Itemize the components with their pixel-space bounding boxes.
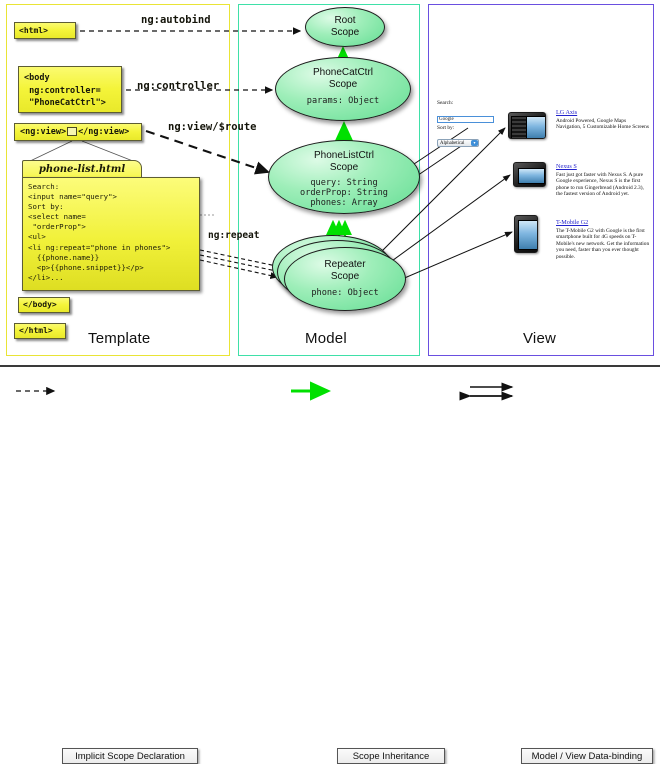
phone-image-lg-axis — [508, 112, 546, 139]
wire-label-ng-controller: ng:controller — [137, 80, 219, 92]
phone-snippet: Android Powered, Google Maps Navigation,… — [556, 118, 650, 131]
scope-phonecatctrl-title-line2: Scope — [276, 79, 410, 91]
scope-repeater-title-line2: Scope — [285, 271, 405, 283]
legend-implicit-scope-declaration: Implicit Scope Declaration — [62, 748, 198, 764]
ngview-slot-icon — [67, 127, 77, 136]
code-html-open-tag: <html> — [14, 22, 76, 39]
column-label-view: View — [523, 330, 556, 347]
column-label-model: Model — [305, 330, 347, 347]
phone-name-link[interactable]: LG Axis — [556, 109, 650, 116]
scope-phonelistctrl-title-line1: PhoneListCtrl — [269, 150, 419, 162]
phone-image-t-mobile-g2 — [514, 215, 538, 253]
phone-snippet: The T-Mobile G2 with Google is the first… — [556, 228, 650, 260]
legend-arrows — [0, 367, 660, 407]
phone-list-item[interactable]: LG Axis Android Powered, Google Maps Nav… — [556, 109, 650, 131]
ngview-close-tag: </ng:view> — [78, 127, 129, 137]
diagram-canvas: <html> <body ng:controller= "PhoneCatCtr… — [0, 0, 660, 405]
sort-label: Sort by: — [437, 125, 499, 132]
scope-root: Root Scope — [305, 7, 385, 47]
legend-scope-inheritance: Scope Inheritance — [337, 748, 445, 764]
chevron-down-icon: ▾ — [471, 140, 478, 146]
scope-phonelistctrl-title-line2: Scope — [269, 162, 419, 174]
wire-label-ng-repeat: ng:repeat — [208, 230, 259, 241]
ngview-open-tag: <ng:view> — [20, 127, 66, 137]
scope-root-title-line1: Root — [306, 15, 384, 27]
scope-phonelistctrl-member-phones: phones: Array — [269, 198, 419, 208]
wire-label-ng-view-route: ng:view/$route — [168, 121, 257, 133]
search-label: Search: — [437, 100, 499, 107]
code-ngview-tag: <ng:view></ng:view> — [14, 123, 142, 141]
phone-list-item[interactable]: Nexus S Fast just got faster with Nexus … — [556, 163, 650, 198]
scope-root-title-line2: Scope — [306, 27, 384, 39]
sort-by-value: Alphabetical — [440, 141, 465, 146]
phone-list-html-callout: phone-list.html Search: <input name="que… — [22, 160, 200, 293]
scope-repeater-member-phone: phone: Object — [285, 288, 405, 298]
column-label-template: Template — [88, 330, 150, 347]
code-body-open-tag: <body ng:controller= "PhoneCatCtrl"> — [18, 66, 122, 113]
scope-phonecatctrl-title-line1: PhoneCatCtrl — [276, 67, 410, 79]
scope-phonelistctrl-member-query: query: String — [269, 178, 419, 188]
legend: Implicit Scope Declaration Scope Inherit… — [0, 365, 660, 407]
code-body-close-tag: </body> — [18, 297, 70, 313]
phone-list-html-code: Search: <input name="query"> Sort by: <s… — [22, 177, 200, 291]
phone-snippet: Fast just got faster with Nexus S. A pur… — [556, 172, 650, 198]
code-html-close-tag: </html> — [14, 323, 66, 339]
sort-by-select[interactable]: Alphabetical▾ — [437, 139, 479, 147]
view-search-form: Search: Sort by: Alphabetical▾ — [437, 100, 499, 149]
phone-name-link[interactable]: Nexus S — [556, 163, 650, 170]
legend-data-binding: Model / View Data-binding — [521, 748, 653, 764]
scope-phonecatctrl: PhoneCatCtrl Scope params: Object — [275, 57, 411, 121]
phone-image-nexus-s — [513, 162, 546, 187]
scope-repeater: Repeater Scope phone: Object — [284, 247, 406, 311]
scope-phonelistctrl: PhoneListCtrl Scope query: String orderP… — [268, 140, 420, 214]
phone-name-link[interactable]: T-Mobile G2 — [556, 219, 650, 226]
scope-repeater-title-line1: Repeater — [285, 259, 405, 271]
search-input[interactable] — [437, 116, 494, 123]
phone-list-item[interactable]: T-Mobile G2 The T-Mobile G2 with Google … — [556, 219, 650, 260]
scope-phonelistctrl-member-orderprop: orderProp: String — [269, 188, 419, 198]
wire-label-ng-autobind: ng:autobind — [141, 14, 211, 26]
scope-phonecatctrl-member-params: params: Object — [276, 96, 410, 106]
